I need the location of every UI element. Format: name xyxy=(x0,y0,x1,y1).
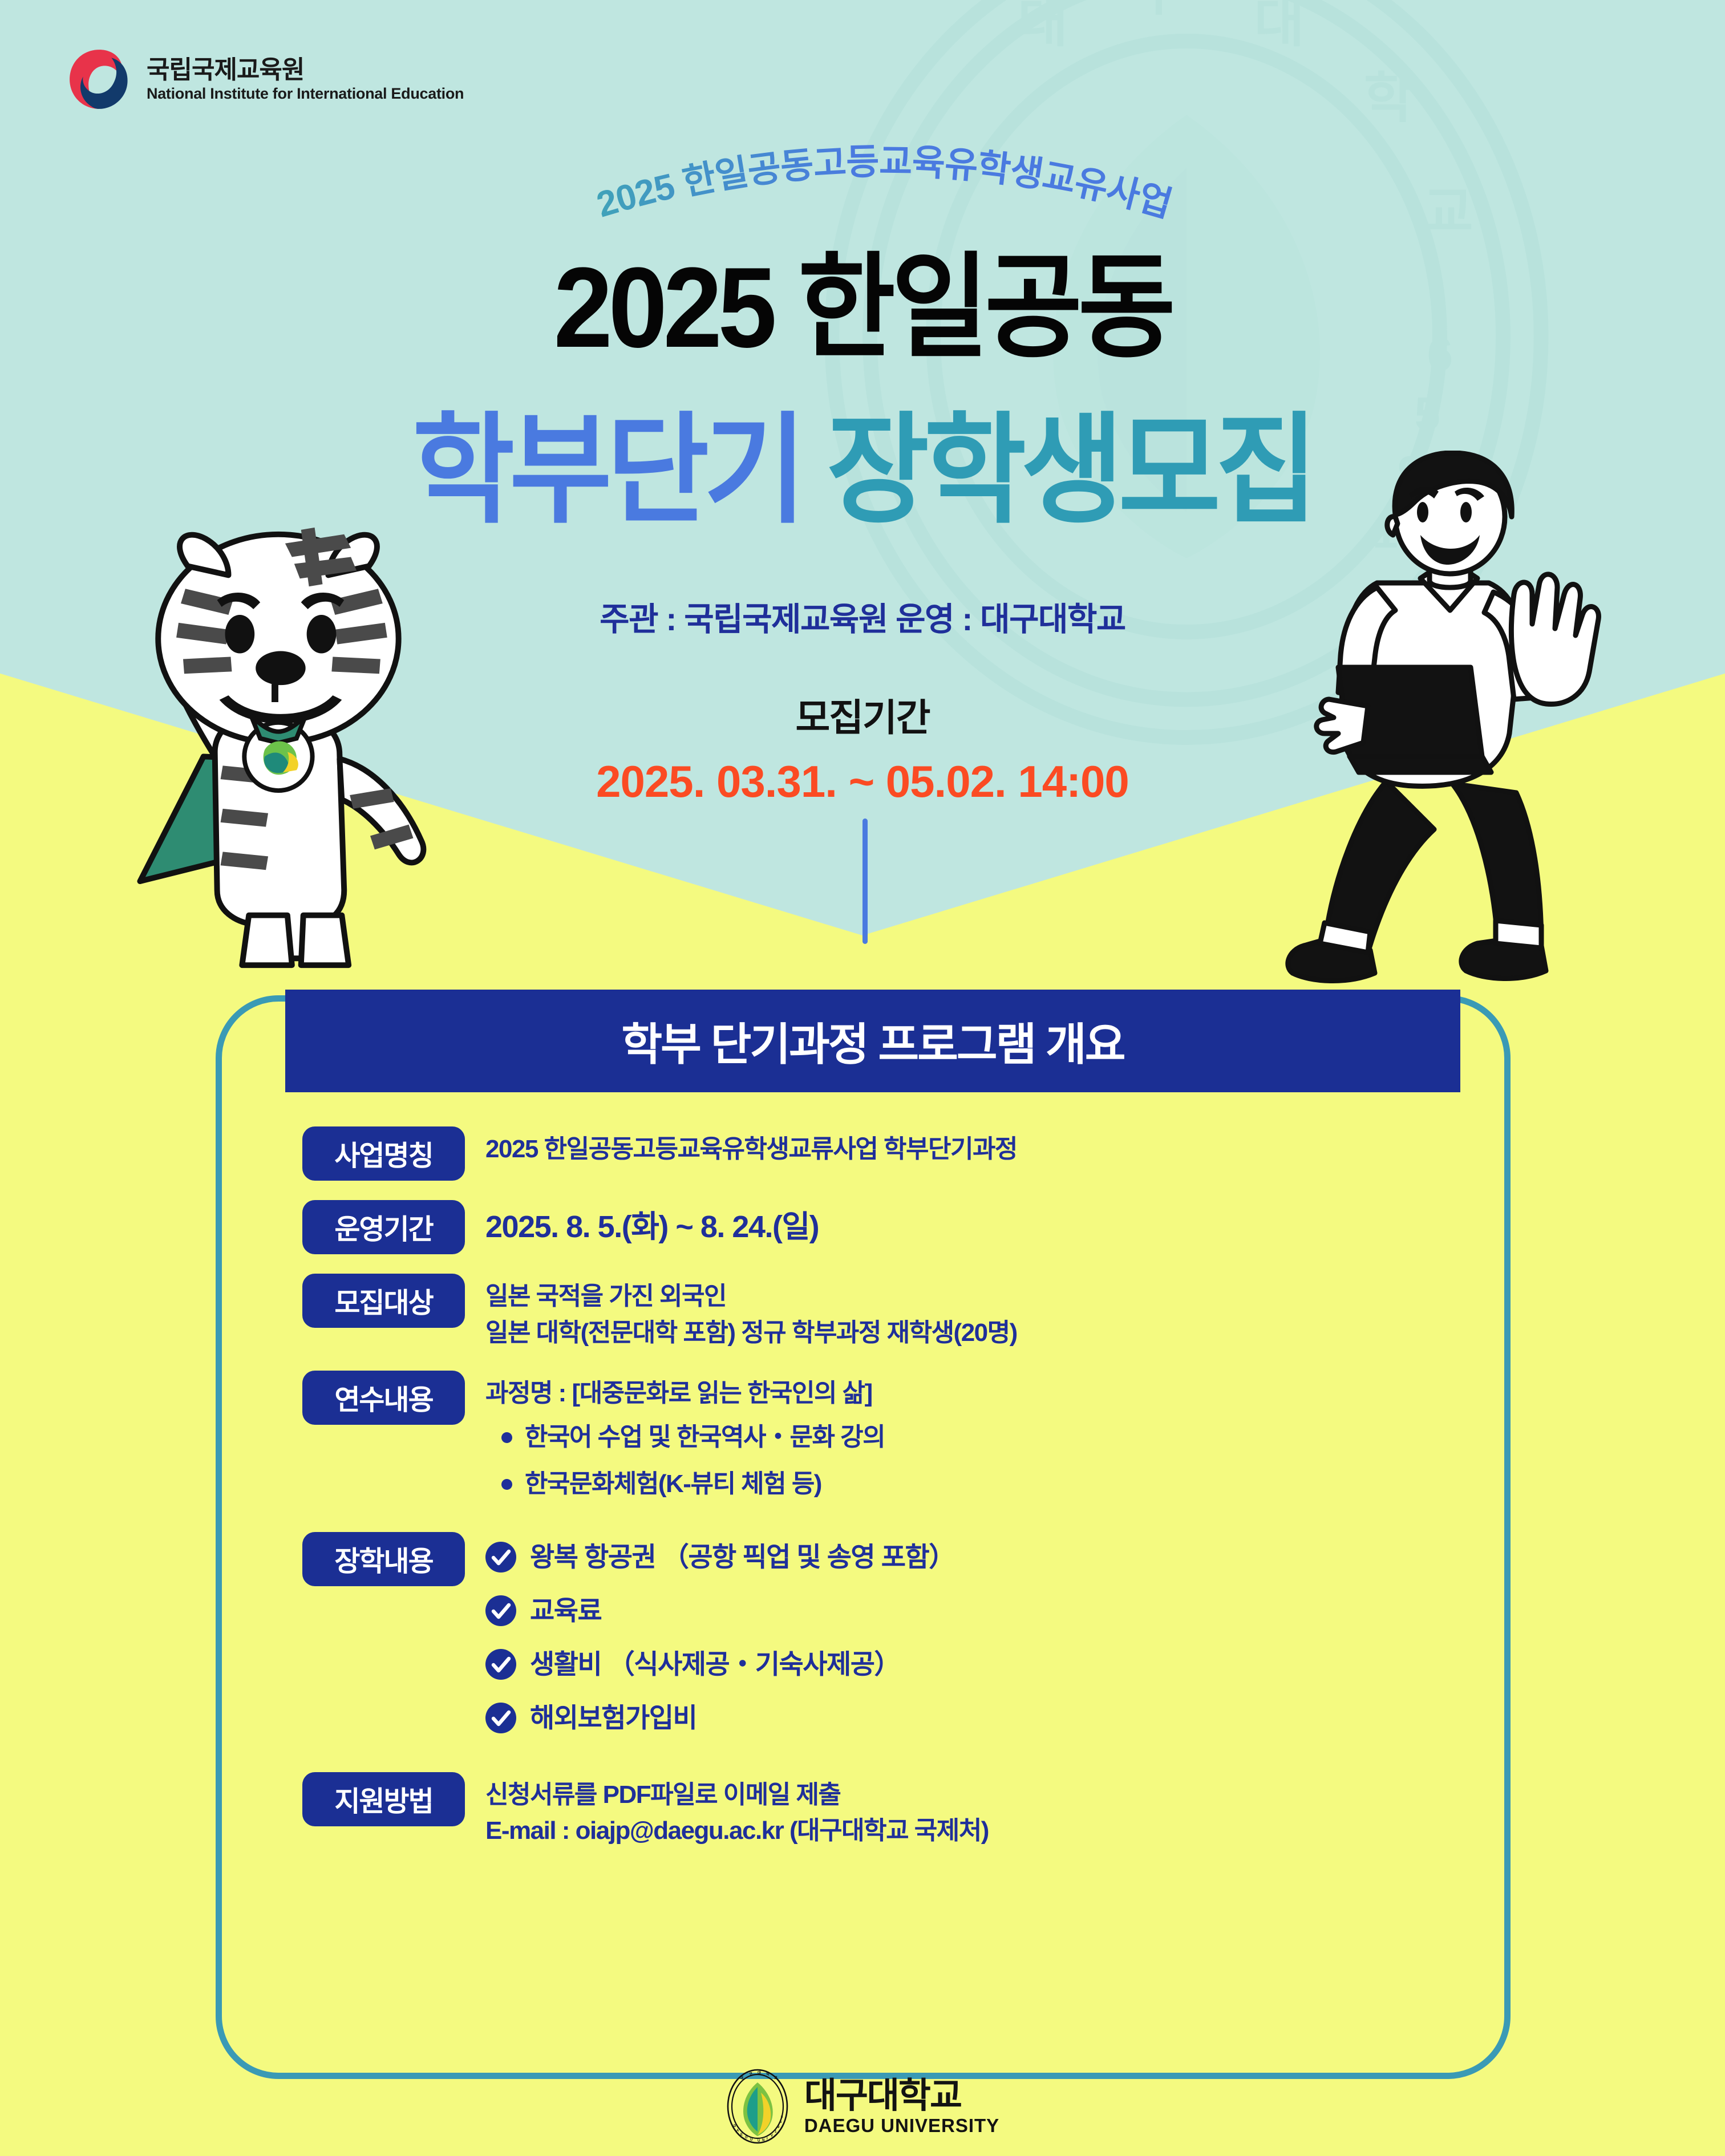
check-circle-icon xyxy=(485,1595,516,1626)
program-info-line: 2025 한일공동고등교육유학생교류사업 학부단기과정 xyxy=(485,1131,1449,1168)
program-info-body: 왕복 항공권 （공항 픽업 및 송영 포함）교육료생활비 （식사제공・기숙사제공… xyxy=(485,1532,1449,1753)
program-info-label: 장학내용 xyxy=(302,1532,465,1586)
scholarship-benefit-text: 왕복 항공권 （공항 픽업 및 송영 포함） xyxy=(530,1538,955,1577)
scholarship-benefit-item: 해외보험가입비 xyxy=(485,1699,1449,1737)
program-info-bullet-text: 한국문화체험(K-뷰티 체험 등) xyxy=(525,1466,821,1502)
seated-student-with-laptop-icon xyxy=(1249,451,1725,998)
svg-text:5: 5 xyxy=(780,2121,782,2124)
program-info-body: 2025. 8. 5.(화) ~ 8. 24.(일) xyxy=(485,1200,1449,1249)
program-info-label-text: 운영기간 xyxy=(334,1207,432,1247)
daegu-university-seal-icon: 대구대학교 DAEG UUNI V1956 xyxy=(726,2068,789,2145)
svg-text:E: E xyxy=(740,2133,743,2137)
program-info-label: 모집대상 xyxy=(302,1274,465,1328)
svg-text:A: A xyxy=(736,2129,739,2133)
white-tiger-mascot-icon xyxy=(68,516,479,981)
svg-text:2025 한일공동고등교육유학생교유사업: 2025 한일공동고등교육유학생교유사업 xyxy=(592,142,1176,225)
svg-text:대: 대 xyxy=(740,2075,743,2080)
scholarship-benefit-item: 교육료 xyxy=(485,1591,1449,1630)
scholarship-benefit-text: 해외보험가입비 xyxy=(530,1699,697,1737)
check-circle-icon xyxy=(485,1649,516,1680)
program-info-line: 2025. 8. 5.(화) ~ 8. 24.(일) xyxy=(485,1205,1449,1249)
program-info-row: 지원방법신청서류를 PDF파일로 이메일 제출E-mail : oiajp@da… xyxy=(302,1772,1449,1850)
scholarship-benefit-text: 생활비 （식사제공・기숙사제공） xyxy=(530,1645,900,1684)
program-info-line: 일본 대학(전문대학 포함) 정규 학부과정 재학생(20명) xyxy=(485,1315,1449,1351)
program-info-bullet-item: 한국문화체험(K-뷰티 체험 등) xyxy=(501,1466,1449,1502)
bullet-dot-icon xyxy=(501,1479,512,1490)
arc-text-content: 2025 한일공동고등교육유학생교유사업 xyxy=(592,142,1176,225)
program-info-bullet-text: 한국어 수업 및 한국역사・문화 강의 xyxy=(525,1419,885,1456)
program-info-row: 연수내용과정명 : [대중문화로 읽는 한국인의 삶]한국어 수업 및 한국역사… xyxy=(302,1371,1449,1513)
svg-text:U: U xyxy=(750,2138,752,2142)
program-info-label: 사업명칭 xyxy=(302,1126,465,1181)
svg-text:9: 9 xyxy=(778,2126,780,2129)
svg-text:학: 학 xyxy=(766,2071,770,2076)
program-info-bullet-list: 한국어 수업 및 한국역사・문화 강의한국문화체험(K-뷰티 체험 등) xyxy=(485,1419,1449,1502)
program-info-label: 운영기간 xyxy=(302,1200,465,1254)
program-info-body: 과정명 : [대중문화로 읽는 한국인의 삶]한국어 수업 및 한국역사・문화 … xyxy=(485,1371,1449,1513)
program-info-row: 사업명칭2025 한일공동고등교육유학생교류사업 학부단기과정 xyxy=(302,1126,1449,1181)
svg-text:구: 구 xyxy=(749,2072,752,2076)
daegu-university-name-kr: 대구대학교 xyxy=(804,2078,999,2114)
daegu-university-footer: 대구대학교 DAEG UUNI V1956 대구대학교 DAEGU UNIVER… xyxy=(0,2068,1725,2145)
program-info-row: 운영기간2025. 8. 5.(화) ~ 8. 24.(일) xyxy=(302,1200,1449,1254)
program-info-row: 모집대상일본 국적을 가진 외국인일본 대학(전문대학 포함) 정규 학부과정 … xyxy=(302,1274,1449,1351)
program-info-label-text: 사업명칭 xyxy=(334,1133,432,1174)
svg-text:G: G xyxy=(745,2136,748,2139)
program-info-label-text: 지원방법 xyxy=(334,1779,432,1819)
svg-text:D: D xyxy=(734,2125,736,2128)
program-info-rows: 사업명칭2025 한일공동고등교육유학생교류사업 학부단기과정운영기간2025.… xyxy=(302,1126,1449,1869)
svg-text:V: V xyxy=(771,2134,773,2138)
program-info-label: 지원방법 xyxy=(302,1772,465,1826)
program-info-line: 신청서류를 PDF파일로 이메일 제출 xyxy=(485,1777,1449,1813)
program-info-body: 2025 한일공동고등교육유학생교류사업 학부단기과정 xyxy=(485,1126,1449,1168)
svg-text:1: 1 xyxy=(775,2130,777,2134)
program-overview-header: 학부 단기과정 프로그램 개요 xyxy=(285,990,1460,1092)
program-info-label-text: 장학내용 xyxy=(334,1539,432,1579)
apex-divider-line xyxy=(862,818,868,944)
scholarship-benefit-list: 왕복 항공권 （공항 픽업 및 송영 포함）교육료생활비 （식사제공・기숙사제공… xyxy=(485,1538,1449,1738)
program-overview-header-text: 학부 단기과정 프로그램 개요 xyxy=(621,1009,1124,1073)
program-info-body: 신청서류를 PDF파일로 이메일 제출E-mail : oiajp@daegu.… xyxy=(485,1772,1449,1850)
daegu-university-name-en: DAEGU UNIVERSITY xyxy=(804,2116,999,2135)
scholarship-benefit-text: 교육료 xyxy=(530,1591,601,1630)
svg-text:대: 대 xyxy=(758,2070,761,2075)
program-info-label: 연수내용 xyxy=(302,1371,465,1425)
program-info-label-text: 연수내용 xyxy=(334,1377,432,1418)
check-circle-icon xyxy=(485,1542,516,1573)
program-info-row: 장학내용왕복 항공권 （공항 픽업 및 송영 포함）교육료생활비 （식사제공・기… xyxy=(302,1532,1449,1753)
main-title-line1: 2025 한일공동 xyxy=(60,251,1665,365)
svg-text:N: N xyxy=(762,2139,764,2142)
poster-canvas: 대구대 학교 1956 국립국제교육원 National Institute f… xyxy=(0,0,1725,2156)
taegeuk-swirl-icon xyxy=(66,46,133,113)
niied-name-kr: 국립국제교육원 xyxy=(147,58,464,83)
main-title-teal-part: 장학생모집 xyxy=(827,403,1313,537)
svg-text:교: 교 xyxy=(774,2076,778,2080)
program-info-line: 일본 국적을 가진 외국인 xyxy=(485,1278,1449,1315)
scholarship-benefit-item: 왕복 항공권 （공항 픽업 및 송영 포함） xyxy=(485,1538,1449,1577)
program-info-bullet-item: 한국어 수업 및 한국역사・문화 강의 xyxy=(501,1419,1449,1456)
program-info-line: E-mail : oiajp@daegu.ac.kr (대구대학교 국제처) xyxy=(485,1813,1449,1849)
program-info-line: 과정명 : [대중문화로 읽는 한국인의 삶] xyxy=(485,1375,1449,1412)
svg-text:U: U xyxy=(758,2139,760,2143)
program-info-body: 일본 국적을 가진 외국인일본 대학(전문대학 포함) 정규 학부과정 재학생(… xyxy=(485,1274,1449,1351)
check-circle-icon xyxy=(485,1703,516,1733)
svg-text:6: 6 xyxy=(781,2116,783,2119)
bullet-dot-icon xyxy=(501,1432,512,1443)
program-info-label-text: 모집대상 xyxy=(334,1280,432,1321)
scholarship-benefit-item: 생활비 （식사제공・기숙사제공） xyxy=(485,1645,1449,1684)
